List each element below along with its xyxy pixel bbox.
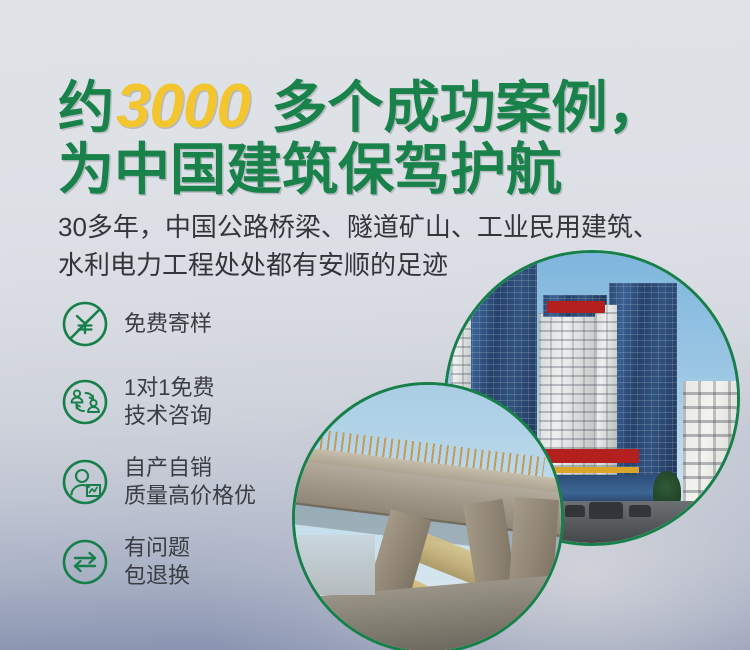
car <box>565 505 585 517</box>
feature-item-direct-sales[interactable]: 自产自销 质量高价格优 <box>60 454 340 510</box>
headline-block: 约3000 多个成功案例， 为中国建筑保驾护航 <box>58 76 718 201</box>
feature-list: 免费寄样 1对1免费 技术咨询 <box>60 296 340 614</box>
headline-prefix: 约 <box>58 76 114 139</box>
headline-number: 3000 <box>114 72 256 141</box>
headline-line-2: 为中国建筑保驾护航 <box>58 139 718 201</box>
factory-direct-chart-icon <box>60 457 110 507</box>
feature-line-1: 1对1免费 <box>124 375 214 400</box>
feature-line-2: 质量高价格优 <box>124 482 256 510</box>
car <box>629 505 651 517</box>
roof-sign-red <box>547 301 605 313</box>
car <box>589 502 623 519</box>
promo-banner: 约3000 多个成功案例， 为中国建筑保驾护航 30多年，中国公路桥梁、隧道矿山… <box>0 0 750 650</box>
feature-line-2: 技术咨询 <box>124 402 214 430</box>
no-fee-yuan-icon <box>60 299 110 349</box>
subcopy-line-1: 30多年，中国公路桥梁、隧道矿山、工业民用建筑、 <box>58 208 738 246</box>
feature-item-returns[interactable]: 有问题 包退换 <box>60 534 340 590</box>
exchange-return-icon <box>60 537 110 587</box>
headline-line-1: 约3000 多个成功案例， <box>58 76 718 139</box>
feature-line-1: 免费寄样 <box>124 311 212 336</box>
feature-text: 1对1免费 技术咨询 <box>124 374 214 430</box>
feature-item-consulting[interactable]: 1对1免费 技术咨询 <box>60 374 340 430</box>
feature-text: 有问题 包退换 <box>124 534 190 590</box>
side-building <box>683 381 740 521</box>
feature-line-1: 自产自销 <box>124 455 212 480</box>
headline-suffix: 多个成功案例， <box>256 76 664 139</box>
feature-text: 免费寄样 <box>124 310 212 338</box>
one-to-one-consult-icon <box>60 377 110 427</box>
feature-item-free-sample[interactable]: 免费寄样 <box>60 296 340 352</box>
feature-text: 自产自销 质量高价格优 <box>124 454 256 510</box>
feature-line-2: 包退换 <box>124 562 190 590</box>
feature-line-1: 有问题 <box>124 535 190 560</box>
